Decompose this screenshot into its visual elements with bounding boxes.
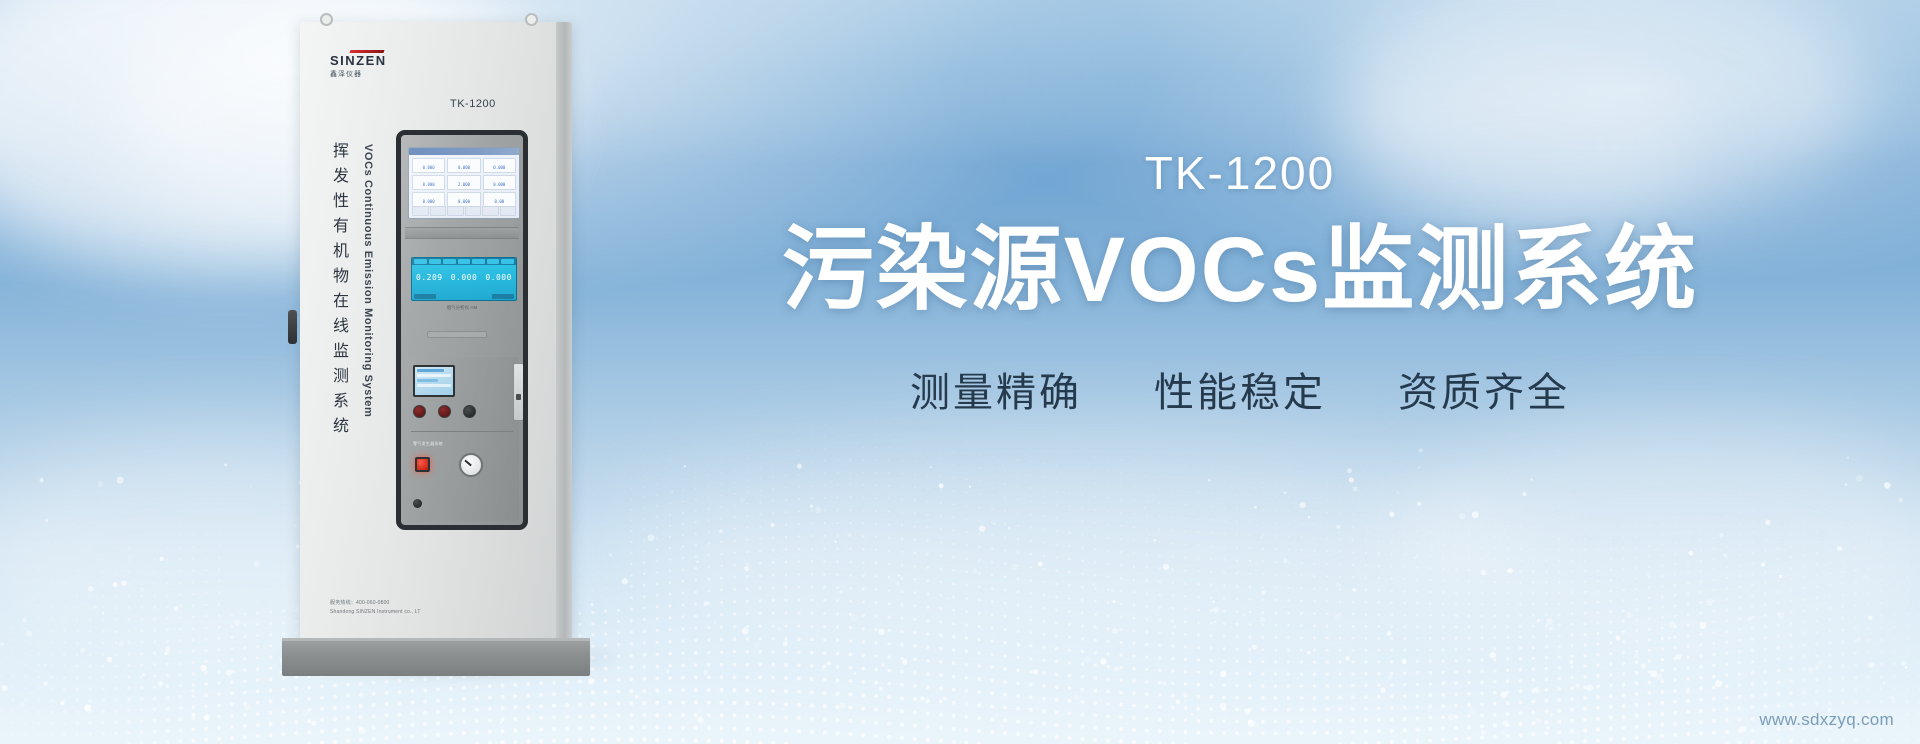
hmi-readout-cell: 0.000	[447, 158, 480, 173]
power-knob-icon	[413, 405, 426, 418]
headline-block: TK-1200 污染源VOCs监测系统 测量精确 性能稳定 资质齐全	[690, 150, 1790, 418]
cabinet-door-handle	[288, 310, 297, 344]
hmi-touchscreen: 0.000 0.000 0.000 0.000 2.000 0.000 0.00…	[408, 147, 520, 219]
brand-accent-bar	[349, 50, 384, 53]
run-knob-icon	[438, 405, 451, 418]
cabinet-right-edge	[556, 22, 572, 640]
analyzer-display: 0.209 0.000 0.000	[411, 257, 517, 301]
alarm-indicator-icon	[415, 457, 430, 472]
hmi-title-bar	[409, 148, 519, 155]
hmi-readout-cell: 0.000	[447, 192, 480, 207]
panel-handle-slot	[427, 331, 487, 338]
analyzer-status-bar	[414, 294, 514, 299]
hmi-button-row	[412, 206, 516, 216]
hmi-readout-cell: 2.000	[447, 175, 480, 190]
hmi-readout-cell: 0.000	[412, 192, 445, 207]
cabinet-vertical-chinese-text: 挥发性有机物在线监测系统	[326, 142, 350, 442]
banner-stage: SINZEN 鑫泽仪器 TK-1200 挥发性有机物在线监测系统 VOCs Co…	[0, 0, 1920, 744]
brand-logo: SINZEN 鑫泽仪器	[330, 50, 404, 79]
page-title: 污染源VOCs监测系统	[690, 222, 1790, 320]
hmi-readout-cell: 0.000	[483, 158, 516, 173]
panel-label-strip	[405, 227, 519, 239]
analyzer-values: 0.209 0.000 0.000	[412, 265, 516, 289]
brand-name: SINZEN	[330, 54, 404, 68]
tagline-item-2: 性能稳定	[1154, 360, 1326, 418]
tagline-item-3: 资质齐全	[1398, 360, 1570, 418]
hmi-readout-grid: 0.000 0.000 0.000 0.000 2.000 0.000 0.00…	[409, 155, 519, 210]
analyzer-value: 0.209	[416, 273, 443, 282]
rotameter-icon	[513, 363, 524, 421]
secondary-display	[413, 365, 455, 397]
cabinet-footer-label: 服务热线：400-060-0800 Shandong SINZEN Instru…	[330, 599, 421, 616]
control-panel: 零气发生器系统	[405, 357, 519, 521]
service-hotline: 服务热线：400-060-0800	[330, 599, 421, 608]
tagline-item-1: 测量精确	[910, 360, 1082, 418]
hmi-readout-cell: 0.00	[483, 192, 516, 207]
product-cabinet-image: SINZEN 鑫泽仪器 TK-1200 挥发性有机物在线监测系统 VOCs Co…	[300, 22, 600, 682]
product-model-heading: TK-1200	[690, 150, 1790, 196]
hmi-readout-cell: 0.000	[412, 158, 445, 173]
panel-strip-text	[405, 228, 519, 231]
analyzer-menu-bar	[412, 258, 516, 265]
cabinet-body: SINZEN 鑫泽仪器 TK-1200 挥发性有机物在线监测系统 VOCs Co…	[300, 22, 572, 640]
panel-divider	[411, 431, 513, 432]
cabinet-base-plinth	[282, 638, 590, 676]
analyzer-caption: 烟气分析仪 HM	[427, 305, 497, 311]
cabinet-model-plate: TK-1200	[450, 98, 496, 110]
pressure-gauge-icon	[459, 453, 483, 477]
dot-mesh-decoration	[0, 414, 1920, 744]
lifting-eye-icon	[525, 13, 538, 26]
hmi-readout-cell: 0.000	[483, 175, 516, 190]
analyzer-value: 0.000	[451, 273, 478, 282]
cabinet-instrument-bay: 0.000 0.000 0.000 0.000 2.000 0.000 0.00…	[396, 130, 528, 530]
cabinet-vertical-english-text: VOCs Continuous Emission Monitoring Syst…	[362, 144, 374, 417]
hmi-readout-cell: 0.000	[412, 175, 445, 190]
adjust-knob-icon	[413, 499, 422, 508]
knob-row	[413, 405, 503, 418]
lifting-eye-icon	[320, 13, 333, 26]
site-watermark: www.sdxzyq.com	[1759, 710, 1894, 730]
tagline-row: 测量精确 性能稳定 资质齐全	[690, 360, 1790, 418]
reset-knob-icon	[463, 405, 476, 418]
brand-name-cn: 鑫泽仪器	[330, 69, 404, 79]
company-name-en: Shandong SINZEN Instrument co., LT	[330, 608, 421, 617]
analyzer-value: 0.000	[485, 273, 512, 282]
panel-section-label: 零气发生器系统	[413, 441, 443, 447]
